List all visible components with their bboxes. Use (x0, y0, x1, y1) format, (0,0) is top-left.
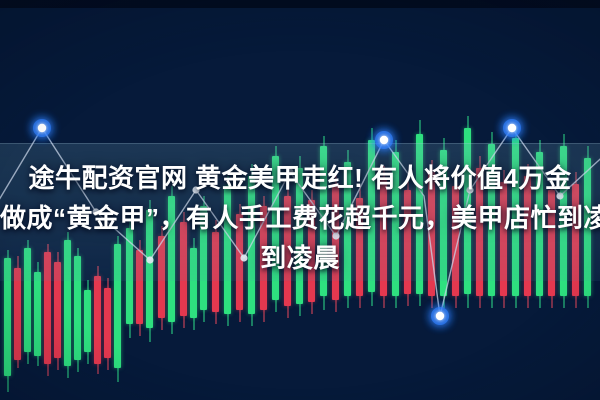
headline-line-3: 到凌晨 (0, 238, 600, 278)
headline-line-1: 途牛配资官网 黄金美甲走红! 有人将价值4万金 (0, 158, 600, 198)
headline-line-2: 做成“黄金甲”，有人手工费花超千元，美甲店忙到凌 (0, 198, 600, 238)
banner-image: 途牛配资官网 黄金美甲走红! 有人将价值4万金 做成“黄金甲”，有人手工费花超千… (0, 0, 600, 400)
headline-text: 途牛配资官网 黄金美甲走红! 有人将价值4万金 做成“黄金甲”，有人手工费花超千… (0, 158, 600, 278)
